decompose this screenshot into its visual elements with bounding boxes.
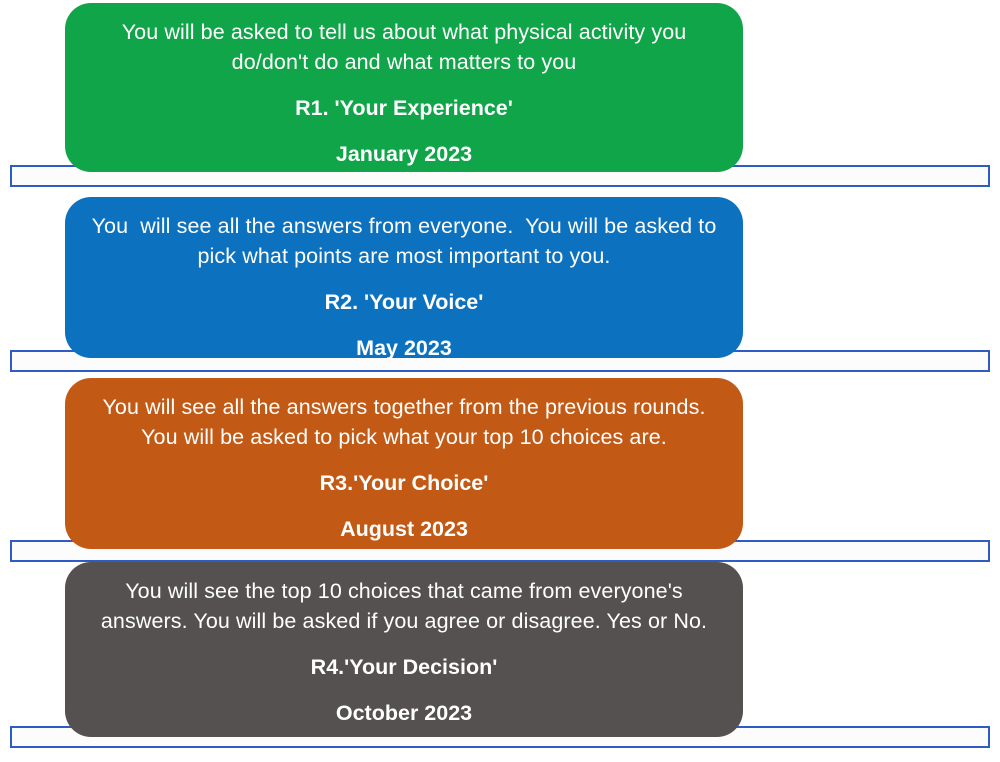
stage-date-round-4: October 2023 [87,698,721,728]
stage-description-round-3: You will see all the answers together fr… [87,392,721,452]
stage-box-round-4: You will see the top 10 choices that cam… [65,562,743,737]
stage-description-round-2: You will see all the answers from everyo… [87,211,721,271]
stage-box-round-3: You will see all the answers together fr… [65,378,743,549]
stage-description-round-1: You will be asked to tell us about what … [87,17,721,77]
stage-box-round-2: You will see all the answers from everyo… [65,197,743,358]
stage-round-title-round-2: R2. 'Your Voice' [87,287,721,317]
stage-date-round-3: August 2023 [87,514,721,544]
stage-date-round-2: May 2023 [87,333,721,363]
stage-date-round-1: January 2023 [87,139,721,169]
stage-round-title-round-4: R4.'Your Decision' [87,652,721,682]
stage-description-round-4: You will see the top 10 choices that cam… [87,576,721,636]
stage-box-round-1: You will be asked to tell us about what … [65,3,743,172]
stage-round-title-round-1: R1. 'Your Experience' [87,93,721,123]
stage-round-title-round-3: R3.'Your Choice' [87,468,721,498]
process-timeline-diagram: You will be asked to tell us about what … [0,0,1000,762]
